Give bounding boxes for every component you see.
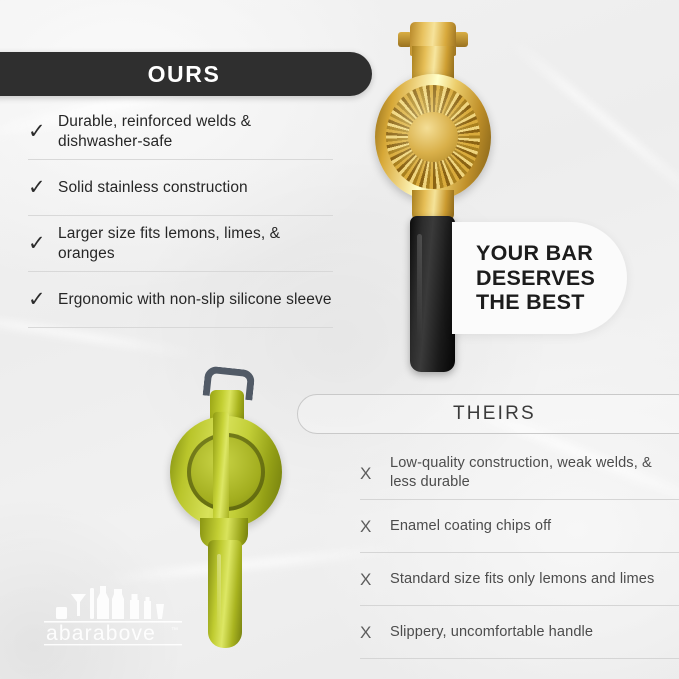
callout-banner: YOUR BAR DESERVES THE BEST: [452, 222, 627, 334]
list-item: ✓ Larger size fits lemons, limes, & oran…: [28, 216, 333, 272]
juicer-bowl-center: [408, 112, 458, 162]
list-item-label: Enamel coating chips off: [390, 517, 551, 536]
theirs-header-bar: THEIRS: [297, 394, 679, 434]
juicer-hinge-lug-right: [454, 32, 468, 47]
juicer-bowl: [375, 74, 491, 200]
list-item: ✓ Ergonomic with non-slip silicone sleev…: [28, 272, 333, 328]
list-item-label: Durable, reinforced welds & dishwasher-s…: [58, 112, 333, 152]
juicer-silicone-sleeve: [410, 216, 455, 372]
logo-wordmark: abarabove: [46, 622, 156, 645]
list-item: X Enamel coating chips off: [360, 500, 679, 553]
callout-line-3: THE BEST: [476, 290, 627, 315]
x-icon: X: [360, 571, 390, 588]
product-comparison-infographic: OURS ✓ Durable, reinforced welds & dishw…: [0, 0, 679, 679]
x-icon: X: [360, 465, 390, 482]
list-item: X Standard size fits only lemons and lim…: [360, 553, 679, 606]
logo-rule-bottom: [44, 644, 182, 645]
check-icon: ✓: [28, 121, 58, 142]
list-item: ✓ Solid stainless construction: [28, 160, 333, 216]
brand-logo: abarabove ™: [38, 580, 188, 648]
list-item-label: Solid stainless construction: [58, 178, 248, 198]
ours-feature-list: ✓ Durable, reinforced welds & dishwasher…: [28, 104, 333, 328]
logo-trademark: ™: [171, 627, 178, 634]
theirs-header-label: THEIRS: [453, 403, 536, 425]
x-icon: X: [360, 624, 390, 641]
check-icon: ✓: [28, 233, 58, 254]
list-item-label: Standard size fits only lemons and limes: [390, 570, 654, 589]
juicer-handle: [208, 540, 242, 648]
theirs-feature-list: X Low-quality construction, weak welds, …: [360, 447, 679, 659]
list-item-label: Larger size fits lemons, limes, & orange…: [58, 224, 333, 264]
ours-header-bar: OURS: [0, 52, 372, 96]
list-item: X Slippery, uncomfortable handle: [360, 606, 679, 659]
ours-header-label: OURS: [138, 61, 221, 88]
check-icon: ✓: [28, 177, 58, 198]
list-item: ✓ Durable, reinforced welds & dishwasher…: [28, 104, 333, 160]
callout-line-2: DESERVES: [476, 266, 627, 291]
list-item-label: Ergonomic with non-slip silicone sleeve: [58, 290, 332, 310]
list-item: X Low-quality construction, weak welds, …: [360, 447, 679, 500]
callout-line-1: YOUR BAR: [476, 241, 627, 266]
brand-logo-graphic: abarabove ™: [38, 580, 188, 648]
list-item-label: Low-quality construction, weak welds, & …: [390, 454, 679, 492]
x-icon: X: [360, 518, 390, 535]
barware-silhouettes-icon: [56, 586, 164, 619]
check-icon: ✓: [28, 289, 58, 310]
list-item-label: Slippery, uncomfortable handle: [390, 623, 593, 642]
